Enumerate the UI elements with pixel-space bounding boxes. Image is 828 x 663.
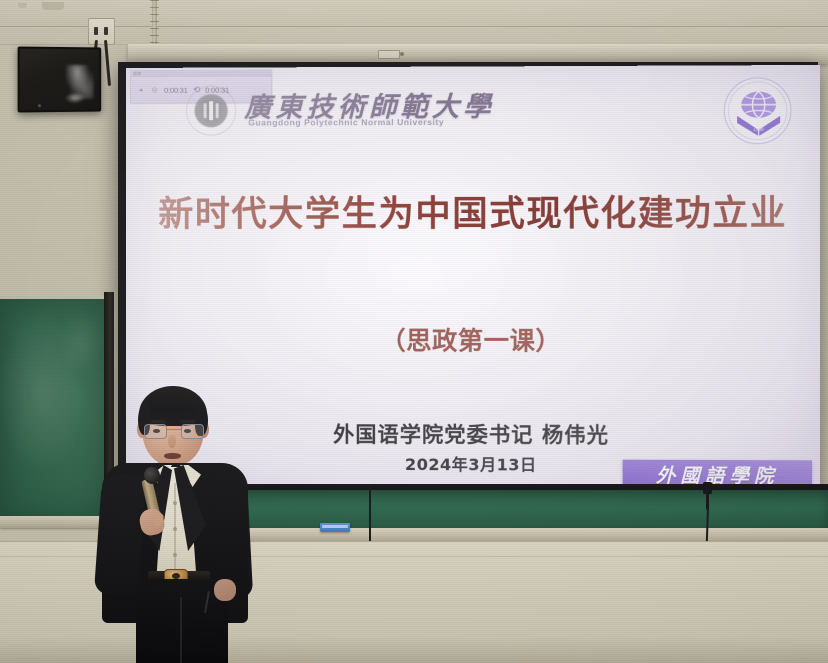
slide-title: 新时代大学生为中国式现代化建功立业 [126,185,820,237]
presenter-mouth [164,453,181,459]
shirt-button [173,553,177,557]
seal-mark-left [204,103,207,118]
projector-screen-housing [128,44,828,64]
glasses-lens-right [181,424,204,439]
university-seal [186,86,236,136]
presenter [96,383,266,663]
hanging-cable-left [369,484,371,546]
svg-text:1986: 1986 [754,127,765,132]
elapsed-time: 0:00:31 [164,85,188,94]
seal-mark-right [216,103,219,118]
housing-sensor [378,50,400,59]
pointer-icon[interactable]: ◎ [150,85,159,94]
green-chalkboard-left [0,296,104,521]
chalk-residue [0,299,104,521]
trouser-seam [180,597,182,663]
display-glare-2 [64,92,86,104]
prev-icon[interactable]: ◂ [136,85,145,94]
glasses-bridge [167,429,181,430]
chalkboard-nick-2 [18,3,27,8]
screenshot-root: 放映 ◂ ◎ 0:00:31 ⟳ 0:00:31 廣東技術師範大學 Guangd… [0,0,828,663]
housing-indicator [400,52,404,56]
blackboard-eraser [320,523,350,532]
chalkboard-nick [42,2,64,10]
presenter-brow-right [180,420,195,423]
wall-seam [0,26,828,27]
slide-subtitle: （思政第一课） [126,321,820,358]
school-emblem: 1986 [724,77,792,144]
glasses-lens-left [144,424,167,439]
power-outlet [88,18,115,45]
display-led [38,104,41,107]
seal-mark-center [209,101,213,120]
emblem-globe-book-icon: 1986 [732,85,785,138]
presenter-nose [168,435,176,448]
shirt-button [173,501,177,505]
wall-mounted-display [18,47,102,113]
presenter-hand-in-pocket [214,579,236,601]
presenter-right-arm [94,474,146,597]
university-name-en: Guangdong Polytechnic Normal University [248,117,444,128]
wall-top-trim [0,0,828,26]
hanging-cable-right [706,484,709,510]
shirt-button [173,527,177,531]
presenter-brow-left [151,420,166,423]
